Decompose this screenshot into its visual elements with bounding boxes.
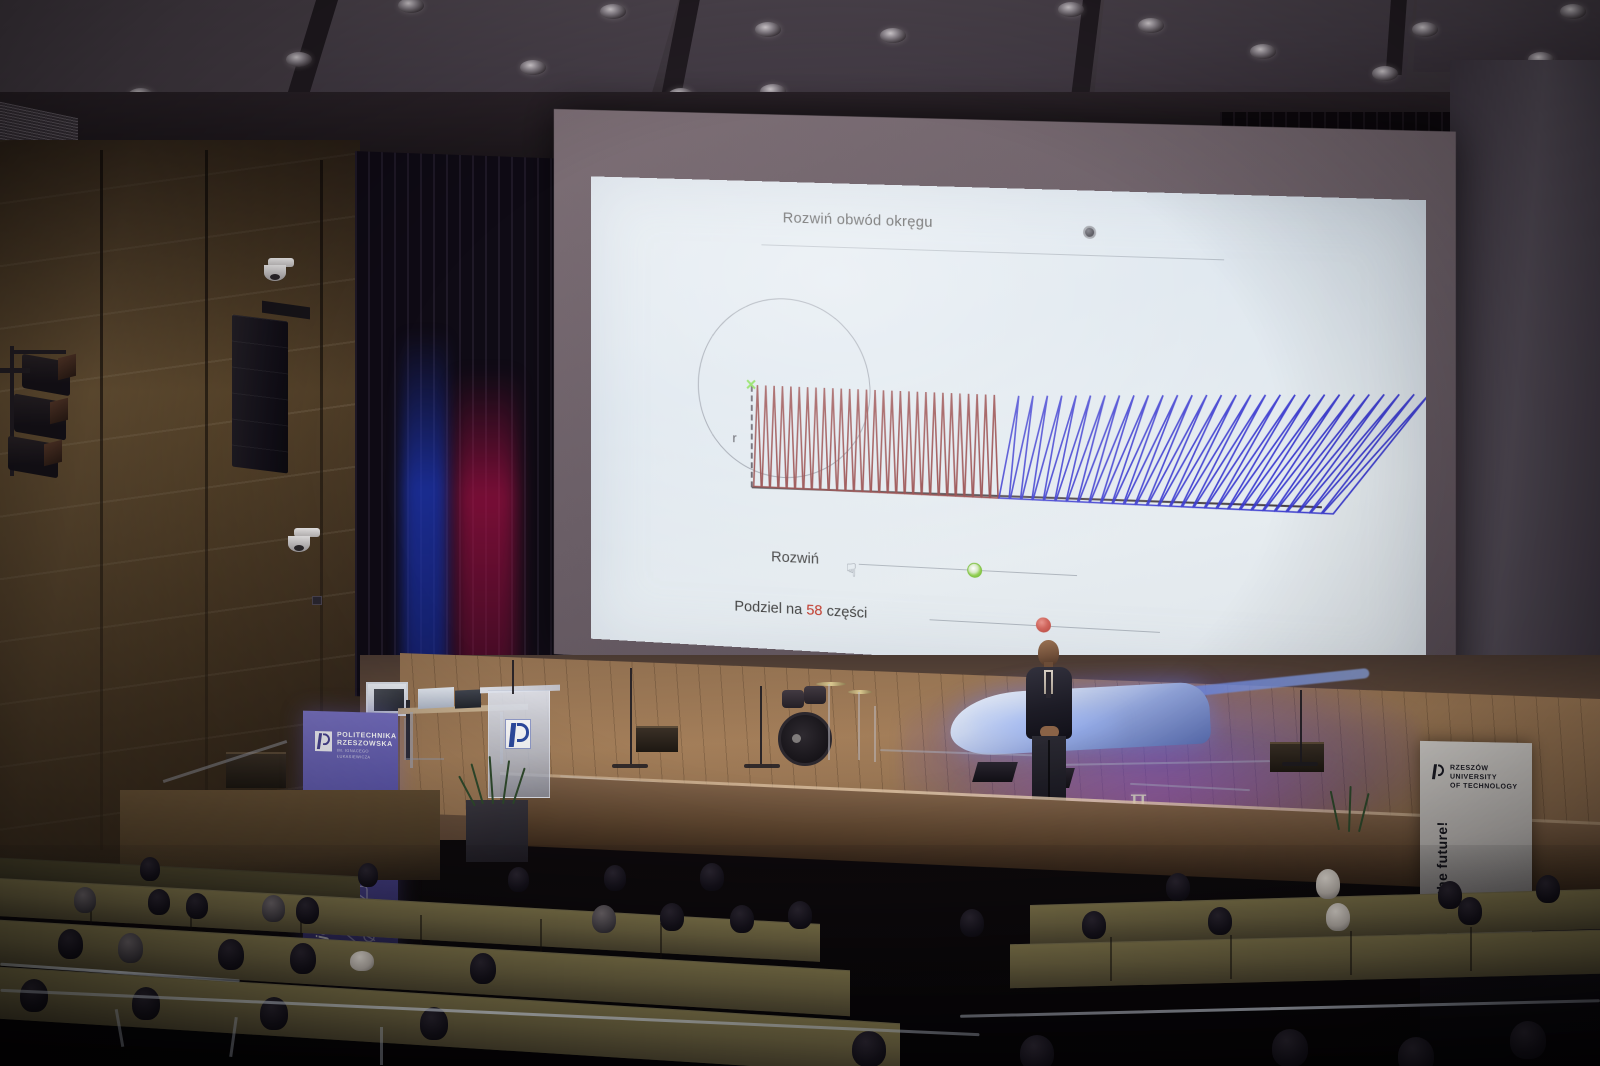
audience-head — [148, 889, 170, 915]
wall-seam — [205, 150, 208, 870]
presentation-slide[interactable]: Rozwiń obwód okręgu ✕ r Rozwiń — [591, 176, 1426, 686]
audience-head — [960, 909, 984, 937]
ceiling-downlight — [1372, 66, 1398, 81]
laptop-secondary — [455, 689, 481, 708]
lectern-microphone — [512, 660, 514, 694]
title-slider-handle[interactable] — [1083, 226, 1096, 239]
cymbal-stand — [828, 684, 830, 760]
audience-head — [1272, 1029, 1308, 1066]
audience-head — [296, 897, 319, 924]
audience-head — [1082, 911, 1106, 939]
curtain-blue-light — [402, 330, 448, 705]
cymbal — [816, 682, 846, 686]
audience-head — [508, 867, 529, 892]
title-slider-track[interactable] — [761, 244, 1224, 260]
ceiling-downlight — [600, 4, 626, 19]
microphone-stand — [630, 668, 632, 764]
lighting-truss — [0, 368, 30, 373]
audience-head — [700, 863, 724, 891]
audience-area — [0, 845, 1600, 1066]
pr-monogram-icon — [1430, 763, 1445, 781]
laptop — [418, 687, 454, 709]
drum-kit — [770, 676, 900, 768]
stage-light-barndoor — [50, 398, 68, 424]
microphone-stand — [760, 686, 762, 764]
audience-head — [1398, 1037, 1434, 1066]
ceiling-downlight — [880, 28, 906, 43]
line-array-speaker — [232, 315, 288, 474]
stage-monitor-wedge — [972, 762, 1018, 782]
control-label-rozwin: Rozwiń — [771, 548, 819, 567]
seat-divider — [660, 923, 662, 961]
audience-head — [1020, 1035, 1054, 1066]
control-label-podziel: Podziel na 58 części — [734, 598, 867, 622]
audience-head — [132, 987, 160, 1020]
ceiling-downlight — [1058, 2, 1084, 17]
tom-drum — [782, 690, 804, 708]
audience-head — [1510, 1021, 1546, 1059]
seat-divider — [1230, 935, 1232, 979]
aisle-railing — [960, 999, 1600, 1018]
audience-head — [1458, 897, 1482, 925]
audience-head — [350, 951, 374, 971]
wall-plate — [312, 596, 322, 605]
audience-head — [358, 863, 378, 887]
presenter-tie — [1046, 672, 1051, 698]
audience-head — [218, 939, 244, 970]
audience-head — [852, 1031, 886, 1066]
microphone-stand — [1300, 690, 1302, 762]
seat-divider — [1350, 931, 1352, 975]
slide-title: Rozwiń obwód okręgu — [783, 209, 933, 230]
audience-head — [140, 857, 160, 881]
curtain-magenta-light — [455, 370, 517, 700]
podziel-prefix: Podziel na — [734, 598, 806, 619]
audience-head — [1166, 873, 1190, 901]
banner-right-org-line2: OF TECHNOLOGY — [1450, 782, 1532, 793]
wall-seam — [100, 150, 103, 850]
audience-head — [1208, 907, 1232, 935]
ceiling-downlight — [286, 52, 312, 67]
audience-head — [290, 943, 316, 974]
audience-head — [788, 901, 812, 929]
banner-left-header: POLITECHNIKA RZESZOWSKA IM. IGNACEGO ŁUK… — [315, 731, 398, 761]
stage-light-barndoor — [44, 440, 62, 466]
podziel-suffix: części — [823, 602, 868, 621]
railing-post — [380, 1027, 383, 1065]
hardware-stand — [874, 706, 876, 762]
audience-head — [74, 887, 96, 913]
auditorium-scene: Rozwiń obwód okręgu ✕ r Rozwiń — [0, 0, 1600, 1066]
prototype-vehicle — [950, 676, 1230, 762]
seat-divider — [1470, 927, 1472, 971]
audience-head — [186, 893, 208, 919]
mic-stand-base — [744, 764, 780, 768]
camera-lens-icon — [294, 545, 304, 551]
ceiling-downlight — [520, 60, 546, 75]
audience-head — [1326, 903, 1350, 931]
drum-badge — [792, 734, 801, 743]
geometry-canvas[interactable]: ✕ r — [591, 284, 1426, 549]
unrolled-segments — [591, 284, 1426, 549]
amplifier-cabinet — [1270, 742, 1324, 772]
mic-stand-base — [1282, 762, 1318, 766]
ceiling-downlight — [1560, 4, 1586, 19]
amplifier-cabinet — [636, 726, 678, 752]
audience-head — [262, 895, 285, 922]
banner-left-org-sub: IM. IGNACEGO ŁUKASIEWICZA — [337, 748, 398, 762]
audience-head — [660, 903, 684, 931]
kick-drum — [778, 712, 832, 766]
camera-lens-icon — [270, 274, 280, 280]
segments-svg — [591, 284, 1426, 549]
hand-cursor-icon: ☟ — [846, 560, 863, 581]
banner-right-org-line1: RZESZÓW UNIVERSITY — [1450, 764, 1532, 784]
audience-head — [1536, 875, 1560, 903]
banner-right-header: RZESZÓW UNIVERSITY OF TECHNOLOGY — [1430, 763, 1532, 792]
audience-head — [20, 979, 48, 1012]
seat-divider — [1110, 937, 1112, 981]
audience-head — [118, 933, 143, 963]
cymbal-stand — [858, 692, 860, 760]
ceiling-downlight — [1138, 18, 1164, 33]
audience-head — [470, 953, 496, 984]
tom-drum — [804, 686, 826, 704]
audience-head — [592, 905, 616, 933]
lectern-logo — [505, 719, 531, 749]
chair — [404, 718, 444, 760]
lighting-truss — [10, 350, 66, 354]
pr-monogram-icon — [315, 731, 332, 751]
audience-head — [730, 905, 754, 933]
banner-right-org: RZESZÓW UNIVERSITY OF TECHNOLOGY — [1450, 764, 1532, 793]
ceiling-downlight — [755, 22, 781, 37]
podziel-count: 58 — [806, 602, 822, 620]
cymbal — [848, 690, 872, 694]
rozwin-slider-handle[interactable] — [967, 562, 982, 578]
audience-head — [58, 929, 83, 959]
audience-head — [604, 865, 626, 891]
ceiling-downlight — [1250, 44, 1276, 59]
podziel-slider-handle[interactable] — [1036, 617, 1051, 633]
mic-stand-base — [612, 764, 648, 768]
projection-screen[interactable]: Rozwiń obwód okręgu ✕ r Rozwiń — [591, 176, 1426, 686]
audience-head — [1316, 869, 1340, 899]
banner-left-org: POLITECHNIKA RZESZOWSKA IM. IGNACEGO ŁUK… — [337, 732, 398, 762]
ceiling-downlight — [1412, 22, 1438, 37]
stage-light-barndoor — [58, 354, 76, 380]
